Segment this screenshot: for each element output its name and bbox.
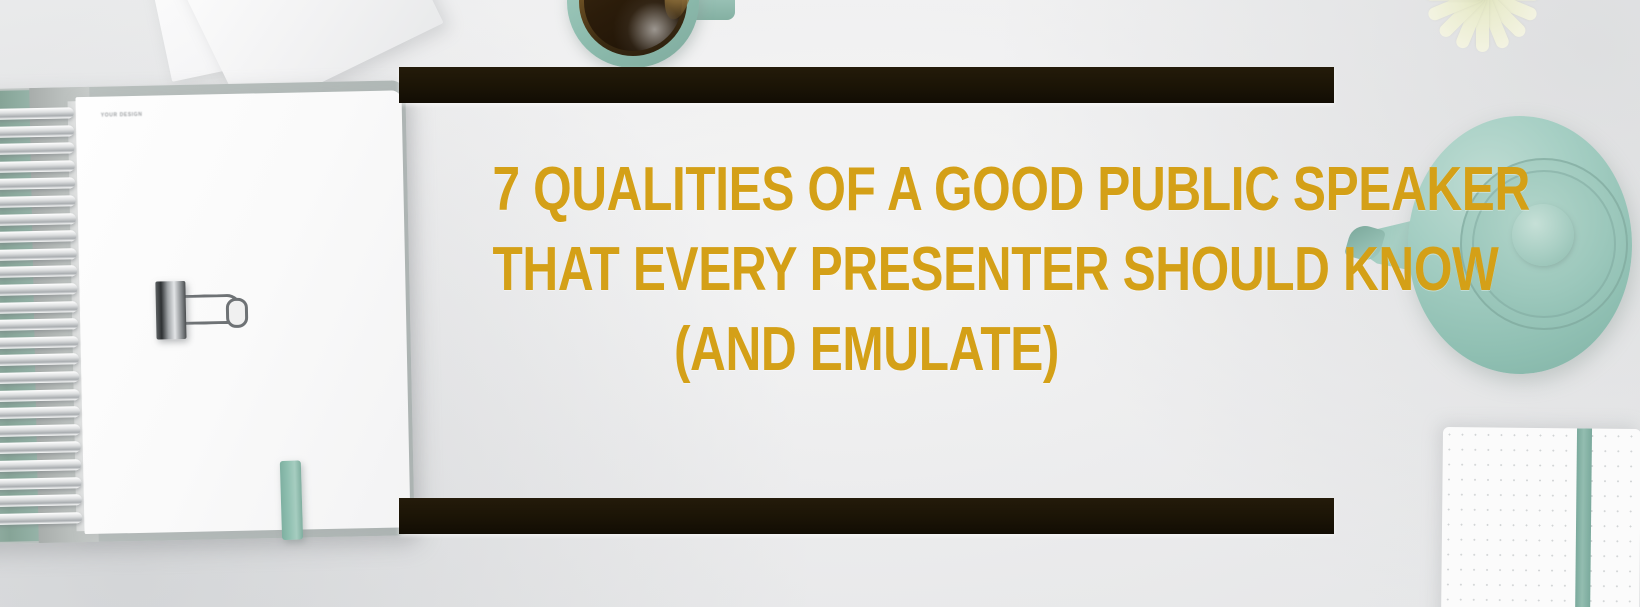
spiral-ring — [0, 512, 82, 525]
spiral-ring — [0, 125, 74, 138]
spiral-ring — [0, 142, 75, 155]
spiral-ring — [0, 213, 76, 226]
notebook-spiral-rings — [0, 107, 86, 529]
flower-petal — [1425, 0, 1483, 1]
spiral-ring — [0, 389, 80, 402]
top-rule-bar — [399, 67, 1334, 103]
spiral-ring — [0, 442, 81, 455]
spiral-ring — [0, 371, 79, 384]
spiral-ring — [0, 336, 79, 349]
binder-clip-arm — [180, 294, 243, 325]
spiral-ring — [0, 230, 76, 243]
dotted-notebook-elastic-band — [1575, 428, 1592, 607]
eraser — [280, 460, 303, 540]
spiral-ring — [0, 301, 78, 314]
binder-clip-icon — [155, 281, 200, 340]
title-line-2: THAT EVERY PRESENTER SHOULD KNOW — [493, 230, 1241, 310]
dotted-notebook-texture — [1441, 427, 1640, 607]
spiral-ring — [0, 406, 80, 419]
spiral-ring — [0, 354, 79, 367]
spiral-notebook: YOUR DESIGN — [0, 80, 415, 546]
spiral-ring — [0, 283, 78, 296]
binder-clip-body — [155, 281, 186, 340]
coffee-cup — [567, 0, 699, 68]
spiral-ring — [0, 424, 81, 437]
title-line-1: 7 QUALITIES OF A GOOD PUBLIC SPEAKER — [493, 150, 1241, 230]
spiral-ring — [0, 195, 76, 208]
flower — [1418, 0, 1546, 56]
page-title: 7 QUALITIES OF A GOOD PUBLIC SPEAKER THA… — [399, 150, 1334, 390]
spiral-ring — [0, 160, 75, 173]
spiral-ring — [0, 266, 77, 279]
title-line-3: (AND EMULATE) — [493, 310, 1241, 390]
spiral-ring — [0, 494, 82, 507]
spiral-ring — [0, 318, 78, 331]
bottom-rule-bar — [399, 498, 1334, 534]
spiral-ring — [0, 107, 74, 120]
spiral-ring — [0, 459, 81, 472]
spiral-ring — [0, 248, 77, 261]
spiral-ring — [0, 178, 75, 191]
spiral-ring — [0, 477, 82, 490]
dotted-notebook — [1441, 427, 1640, 607]
notebook-watermark-text: YOUR DESIGN — [101, 112, 143, 119]
banner-scene: YOUR DESIGN 7 QUALITIES OF A GOOD PUB — [0, 0, 1640, 607]
